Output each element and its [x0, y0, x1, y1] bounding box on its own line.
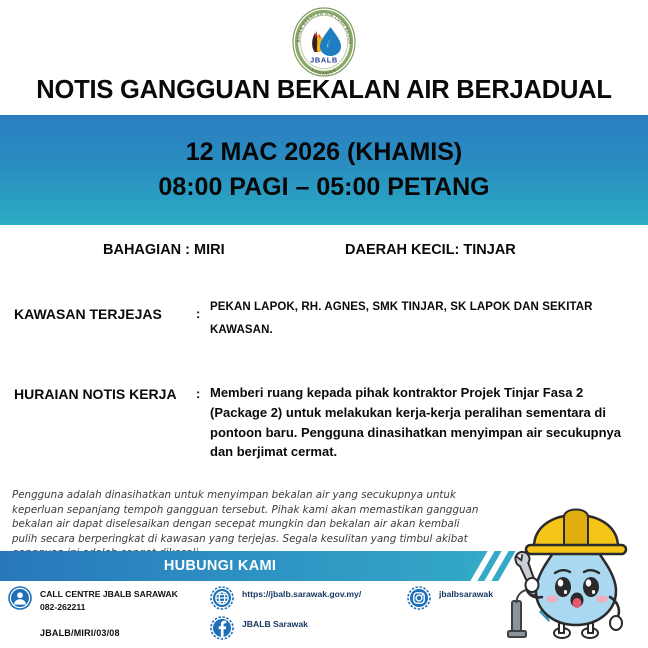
work-description-label: HURAIAN NOTIS KERJA [14, 386, 177, 402]
call-centre-text: CALL CENTRE JBALB SARAWAK 082-262211 [40, 586, 178, 615]
facebook-page[interactable]: JBALB Sarawak [242, 616, 308, 631]
page-title: NOTIS GANGGUAN BEKALAN AIR BERJADUAL [0, 76, 648, 105]
date-time-banner: 12 MAC 2026 (KHAMIS) 08:00 PAGI – 05:00 … [0, 115, 648, 225]
notice-time: 08:00 PAGI – 05:00 PETANG [158, 172, 489, 203]
water-droplet-mascot [500, 505, 648, 648]
contact-instagram[interactable]: jbalbsarawak [407, 586, 493, 610]
jbalb-sarawak-logo: JABATAN BEKALAN AIR LUAR BANDAR SARAWAK … [291, 7, 357, 77]
work-description-colon: : [196, 386, 200, 401]
work-description-value: Memberi ruang kepada pihak kontraktor Pr… [210, 383, 625, 462]
contact-facebook[interactable]: JBALB Sarawak [210, 616, 308, 640]
affected-area-label: KAWASAN TERJEJAS [14, 306, 162, 322]
svg-text:JBALB: JBALB [310, 56, 338, 65]
call-centre-name: CALL CENTRE JBALB SARAWAK [40, 588, 178, 601]
division-row: BAHAGIAN : MIRI DAERAH KECIL: TINJAR [0, 242, 648, 264]
contact-call-centre: CALL CENTRE JBALB SARAWAK 082-262211 [8, 586, 178, 615]
contact-bar-title: HUBUNGI KAMI [0, 551, 440, 581]
instagram-icon[interactable] [407, 586, 431, 610]
facebook-icon[interactable] [210, 616, 234, 640]
reference-code: JBALB/MIRI/03/08 [40, 628, 120, 638]
affected-area-value: PEKAN LAPOK, RH. AGNES, SMK TINJAR, SK L… [210, 296, 625, 342]
globe-icon[interactable] [210, 586, 234, 610]
logo-container: JABATAN BEKALAN AIR LUAR BANDAR SARAWAK … [0, 6, 648, 78]
bahagian-label: BAHAGIAN : MIRI [103, 242, 225, 258]
contact-website[interactable]: https://jbalb.sarawak.gov.my/ [210, 586, 361, 610]
call-centre-number: 082-262211 [40, 601, 178, 614]
affected-area-colon: : [196, 306, 200, 321]
person-icon [8, 586, 32, 610]
notice-date: 12 MAC 2026 (KHAMIS) [186, 137, 462, 168]
instagram-handle[interactable]: jbalbsarawak [439, 586, 493, 601]
contact-header-bar: HUBUNGI KAMI [0, 551, 482, 581]
website-url[interactable]: https://jbalb.sarawak.gov.my/ [242, 586, 361, 601]
daerah-kecil-label: DAERAH KECIL: TINJAR [345, 242, 516, 258]
